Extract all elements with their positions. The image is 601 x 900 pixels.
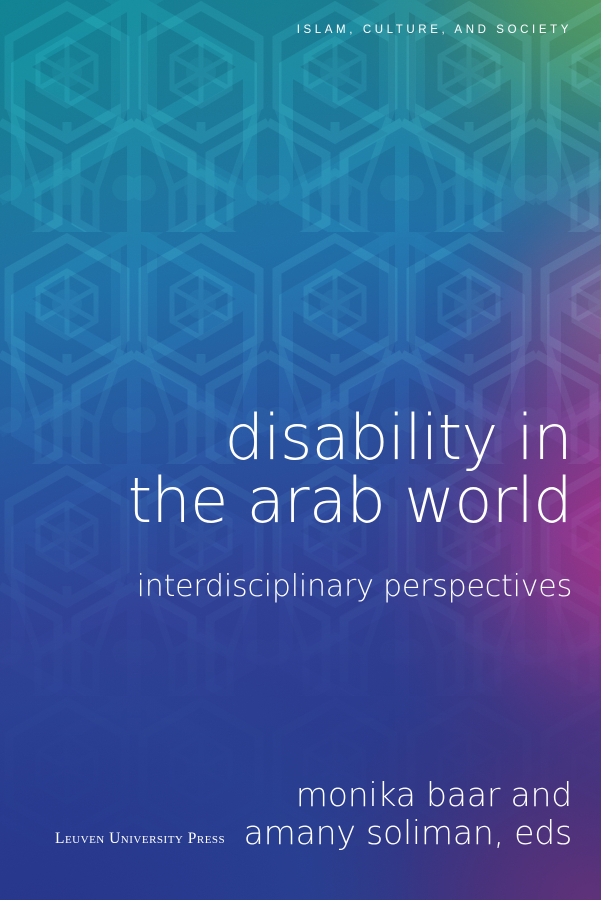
title-line-2: the arab world: [32, 469, 572, 532]
series-title: ISLAM, CULTURE, AND SOCIETY: [297, 24, 572, 36]
editor-line-1: monika baar and: [244, 776, 572, 814]
book-cover: ISLAM, CULTURE, AND SOCIETY disability i…: [0, 0, 601, 900]
editors-block: monika baar and amany soliman, eds: [244, 776, 572, 852]
editor-line-2: amany soliman, eds: [244, 814, 572, 852]
book-title: disability in the arab world: [32, 406, 572, 532]
publisher-logo: Leuven University Press: [55, 830, 225, 848]
book-subtitle: interdisciplinary perspectives: [137, 569, 572, 605]
title-line-1: disability in: [32, 406, 572, 469]
